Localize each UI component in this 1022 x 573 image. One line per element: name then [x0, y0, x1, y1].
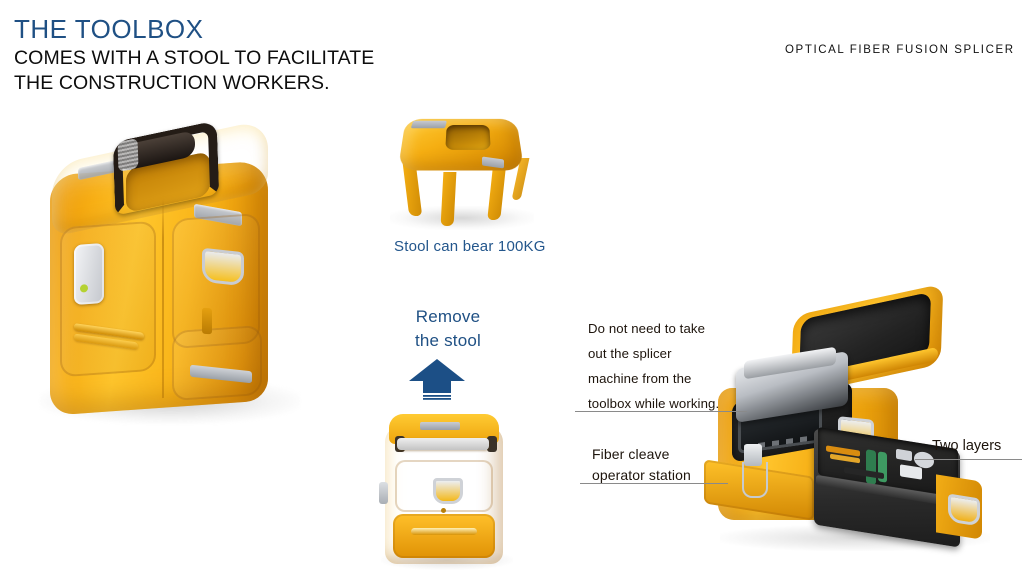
toolbox-clip [202, 308, 212, 335]
toolbox-front-drawer [393, 514, 495, 558]
product-category-label: OPTICAL FIBER FUSION SPLICER [785, 44, 1015, 56]
fiber-cleave-label: Fiber cleave operator station [592, 444, 691, 486]
toolbox-front-handle [397, 438, 489, 450]
toolbox-seam [162, 198, 164, 398]
toolbox-front-image [375, 408, 520, 573]
remove-stool-label: Remove the stool [398, 305, 498, 353]
page-subtitle: COMES WITH A STOOL TO FACILITATE THE CON… [14, 46, 374, 96]
up-arrow-icon [406, 357, 468, 402]
two-layers-label: Two layers [932, 438, 1001, 454]
stool-image [382, 106, 542, 234]
fiber-cleave-leader-line [580, 483, 728, 484]
splicer-note-text: Do not need to take out the splicer mach… [588, 316, 719, 416]
toolbox-panel-lower-right [172, 325, 262, 401]
toolbox-front-drawer-handle [411, 528, 477, 535]
toolbox-open-image [700, 300, 1022, 573]
toolbox-front-pull-ring [433, 478, 463, 504]
toolbox-pull-ring [202, 248, 244, 286]
two-layers-leader-line [915, 459, 1022, 460]
drawer-tool-stripper-green [866, 449, 876, 485]
toolbox-front-pin [441, 508, 446, 513]
stool-brand-plaque [411, 121, 447, 128]
stool-capacity-caption: Stool can bear 100KG [394, 238, 546, 255]
toolbox-latch [74, 243, 104, 305]
stool-seat-hole [445, 125, 490, 150]
toolbox-front-brand-plaque [420, 422, 460, 430]
toolbox-closed-image [22, 128, 322, 433]
toolbox-open-latch-wire [742, 462, 768, 498]
page-title: THE TOOLBOX [14, 14, 203, 45]
splicer-note-leader-line [575, 411, 747, 412]
toolbox-front-latch [379, 482, 388, 504]
carry-handle-hinge-strip [117, 138, 138, 172]
